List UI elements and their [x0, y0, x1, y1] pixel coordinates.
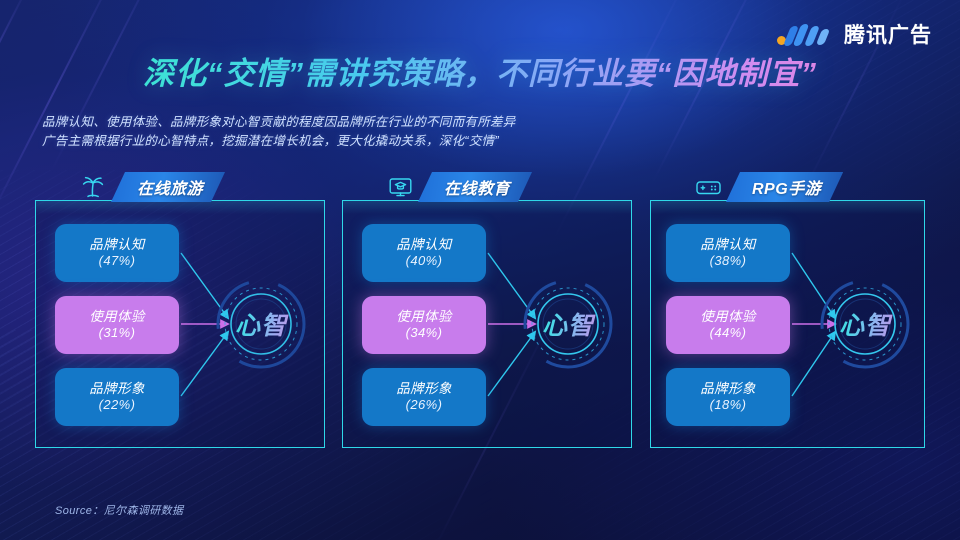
source-note: Source：尼尔森调研数据 [55, 502, 183, 518]
panel-title: 在线旅游 [137, 175, 203, 199]
panel-header-online-education[interactable]: 在线教育 [380, 172, 532, 202]
factor-name: 品牌认知 [89, 237, 145, 253]
subtitle-line-1: 品牌认知、使用体验、品牌形象对心智贡献的程度因品牌所在行业的不同而有所差异 [42, 113, 516, 132]
factor-value: (40%) [406, 254, 443, 269]
core-label: 心智 [215, 278, 307, 370]
logo-bar [816, 29, 830, 45]
factor-value: (22%) [99, 398, 136, 413]
gamepad-icon [688, 172, 728, 202]
factor-value: (34%) [406, 326, 443, 341]
logo-wordmark: 腾讯广告 [844, 25, 932, 46]
factor-box-brand-awareness[interactable]: 品牌认知 (40%) [362, 224, 486, 282]
factor-box-brand-image[interactable]: 品牌形象 (22%) [55, 368, 179, 426]
panel-rpg-mobile-game: RPG手游 品牌认知 (38%) 使用体验 (44 [650, 200, 925, 448]
factor-name: 使用体验 [396, 309, 452, 325]
factor-name: 使用体验 [89, 309, 145, 325]
panel-title-ribbon: 在线旅游 [111, 172, 225, 202]
core-label: 心智 [819, 278, 911, 370]
factor-value: (26%) [406, 398, 443, 413]
panel-title: 在线教育 [444, 175, 510, 199]
core-circle-mindshare: 心智 [819, 278, 911, 370]
panel-header-rpg-mobile-game[interactable]: RPG手游 [688, 172, 843, 202]
panel-online-travel: 在线旅游 品牌认知 (47%) 使用体验 (31% [35, 200, 325, 448]
factor-name: 品牌形象 [396, 381, 452, 397]
factor-box-usage-experience[interactable]: 使用体验 (34%) [362, 296, 486, 354]
factor-box-usage-experience[interactable]: 使用体验 (31%) [55, 296, 179, 354]
core-label: 心智 [522, 278, 614, 370]
factor-box-brand-image[interactable]: 品牌形象 (18%) [666, 368, 790, 426]
panel-online-education: 在线教育 品牌认知 (40%) 使用体验 (34% [342, 200, 632, 448]
factor-value: (47%) [99, 254, 136, 269]
factor-name: 品牌形象 [700, 381, 756, 397]
core-circle-mindshare: 心智 [522, 278, 614, 370]
panel-title-ribbon: RPG手游 [726, 172, 843, 202]
factor-value: (38%) [710, 254, 747, 269]
factor-name: 使用体验 [700, 309, 756, 325]
slide-canvas: 腾讯广告 深化“交情”需讲究策略，不同行业要“因地制宜” 品牌认知、使用体验、品… [0, 0, 960, 540]
factor-box-brand-image[interactable]: 品牌形象 (26%) [362, 368, 486, 426]
factor-list: 品牌认知 (47%) 使用体验 (31%) 品牌形象 (22%) [55, 224, 179, 426]
palm-tree-icon [73, 172, 113, 202]
panel-title-ribbon: 在线教育 [418, 172, 532, 202]
factor-list: 品牌认知 (38%) 使用体验 (44%) 品牌形象 (18%) [666, 224, 790, 426]
subtitle-block: 品牌认知、使用体验、品牌形象对心智贡献的程度因品牌所在行业的不同而有所差异 广告… [42, 113, 516, 151]
monitor-graduation-icon [380, 172, 420, 202]
factor-box-usage-experience[interactable]: 使用体验 (44%) [666, 296, 790, 354]
factor-box-brand-awareness[interactable]: 品牌认知 (38%) [666, 224, 790, 282]
light-streak [0, 0, 31, 275]
factor-value: (18%) [710, 398, 747, 413]
tencent-ads-logo: 腾讯广告 [777, 22, 932, 48]
page-title: 深化“交情”需讲究策略，不同行业要“因地制宜” [0, 48, 960, 93]
factor-value: (44%) [710, 326, 747, 341]
logo-mark-icon [777, 22, 835, 48]
factor-value: (31%) [99, 326, 136, 341]
factor-list: 品牌认知 (40%) 使用体验 (34%) 品牌形象 (26%) [362, 224, 486, 426]
factor-name: 品牌认知 [396, 237, 452, 253]
panel-header-online-travel[interactable]: 在线旅游 [73, 172, 225, 202]
factor-name: 品牌形象 [89, 381, 145, 397]
factor-box-brand-awareness[interactable]: 品牌认知 (47%) [55, 224, 179, 282]
factor-name: 品牌认知 [700, 237, 756, 253]
core-circle-mindshare: 心智 [215, 278, 307, 370]
subtitle-line-2: 广告主需根据行业的心智特点，挖掘潜在增长机会，更大化撬动关系，深化“交情” [42, 132, 516, 151]
panel-title: RPG手游 [752, 175, 821, 199]
